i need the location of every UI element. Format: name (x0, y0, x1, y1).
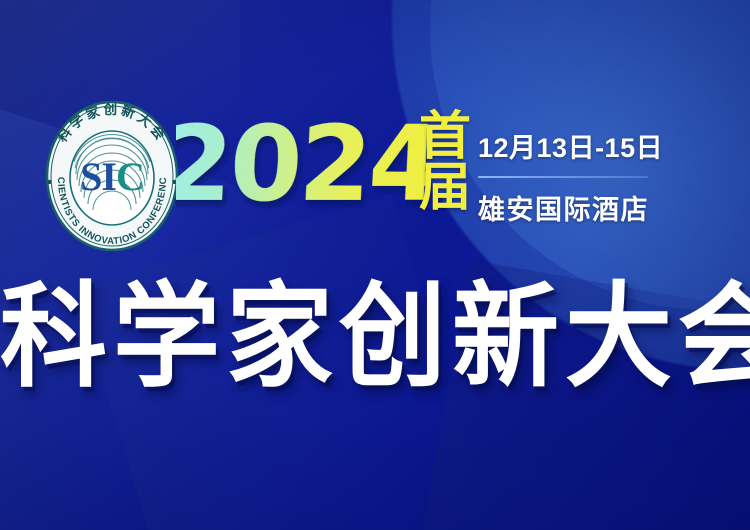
event-date: 12月13日-15日 (478, 126, 658, 165)
edition-char-2: 届 (419, 163, 471, 214)
year-2024: 2024 (176, 112, 428, 216)
event-info: 12月13日-15日 雄安国际酒店 (478, 126, 658, 227)
poster-content: SIC 科学家创新大会 SCIENTISTS INNOVATION CONFER… (0, 0, 750, 530)
info-divider (478, 176, 648, 178)
edition-label: 首 届 (418, 112, 472, 214)
edition-char-1: 首 (419, 112, 471, 163)
svg-text:2024: 2024 (176, 112, 428, 216)
event-venue: 雄安国际酒店 (478, 188, 658, 227)
svg-text:SIC: SIC (80, 154, 144, 199)
poster-headline: 科学家创新大会 (0, 285, 750, 392)
conference-poster: SIC 科学家创新大会 SCIENTISTS INNOVATION CONFER… (0, 0, 750, 530)
conference-logo: SIC 科学家创新大会 SCIENTISTS INNOVATION CONFER… (38, 100, 186, 252)
headline-text: 科学家创新大会 (0, 282, 750, 395)
